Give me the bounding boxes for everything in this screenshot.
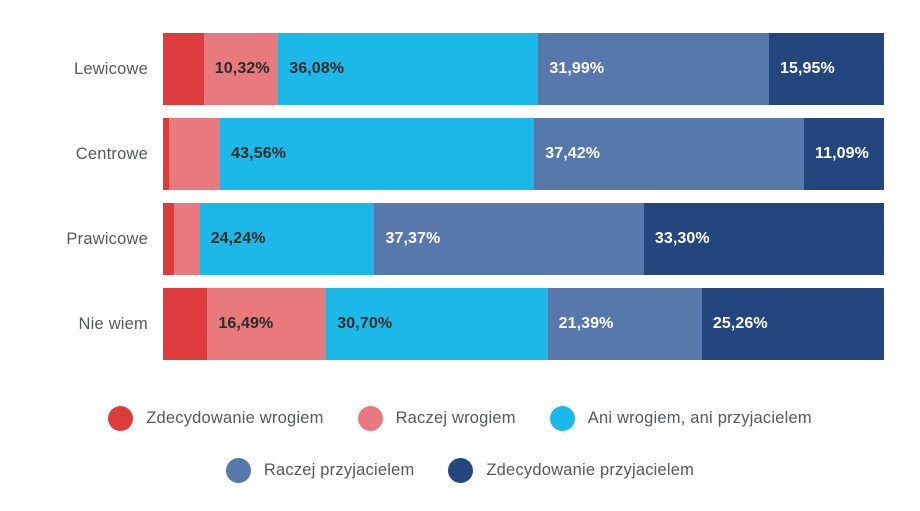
stacked-bar-nie-wiem: 16,49%30,70%21,39%25,26% xyxy=(163,288,884,360)
bar-row: Nie wiem 16,49%30,70%21,39%25,26% xyxy=(0,288,920,360)
bar-segment xyxy=(174,203,200,275)
bar-segment: 25,26% xyxy=(702,288,884,360)
bar-segment-value-label: 25,26% xyxy=(713,315,768,333)
bar-segment xyxy=(163,33,204,105)
legend-swatch-icon xyxy=(226,458,251,483)
bar-segment: 11,09% xyxy=(804,118,884,190)
stacked-bar-lewicowe: 10,32%36,08%31,99%15,95% xyxy=(163,33,884,105)
chart-legend: Zdecydowanie wrogiemRaczej wrogiemAni wr… xyxy=(0,392,920,496)
bar-segment: 10,32% xyxy=(204,33,278,105)
bar-segment: 30,70% xyxy=(326,288,547,360)
bar-segment xyxy=(163,203,174,275)
bar-segment: 24,24% xyxy=(200,203,375,275)
bar-segment-value-label: 24,24% xyxy=(211,230,266,248)
legend-swatch-icon xyxy=(550,406,575,431)
stacked-bar-chart: Lewicowe 10,32%36,08%31,99%15,95% Centro… xyxy=(0,0,920,511)
legend-row-2: Raczej przyjacielemZdecydowanie przyjaci… xyxy=(0,444,920,496)
bar-segment: 33,30% xyxy=(644,203,884,275)
legend-swatch-icon xyxy=(358,406,383,431)
bar-segment: 16,49% xyxy=(207,288,326,360)
bar-segment-value-label: 31,99% xyxy=(549,60,604,78)
bar-segment: 37,37% xyxy=(374,203,643,275)
bar-segment: 37,42% xyxy=(534,118,804,190)
bar-segment: 36,08% xyxy=(278,33,538,105)
stacked-bar-prawicowe: 24,24%37,37%33,30% xyxy=(163,203,884,275)
bar-segment: 43,56% xyxy=(220,118,534,190)
bar-segment-value-label: 33,30% xyxy=(655,230,710,248)
legend-swatch-icon xyxy=(108,406,133,431)
bar-segment xyxy=(169,118,220,190)
bar-segment-value-label: 16,49% xyxy=(218,315,273,333)
bar-row: Lewicowe 10,32%36,08%31,99%15,95% xyxy=(0,33,920,105)
legend-item[interactable]: Zdecydowanie wrogiem xyxy=(108,406,323,431)
bar-segment: 15,95% xyxy=(769,33,884,105)
legend-item[interactable]: Ani wrogiem, ani przyjacielem xyxy=(550,406,812,431)
bar-segment-value-label: 43,56% xyxy=(231,145,286,163)
bar-segment-value-label: 37,37% xyxy=(385,230,440,248)
stacked-bar-centrowe: 43,56%37,42%11,09% xyxy=(163,118,884,190)
legend-label: Zdecydowanie przyjacielem xyxy=(486,461,694,480)
bar-segment-value-label: 11,09% xyxy=(815,145,869,163)
bar-segment: 31,99% xyxy=(538,33,769,105)
category-label-nie-wiem: Nie wiem xyxy=(0,288,148,360)
legend-row-1: Zdecydowanie wrogiemRaczej wrogiemAni wr… xyxy=(0,392,920,444)
bar-row: Prawicowe 24,24%37,37%33,30% xyxy=(0,203,920,275)
bar-segment: 21,39% xyxy=(548,288,702,360)
bar-segment-value-label: 10,32% xyxy=(215,60,270,78)
legend-label: Zdecydowanie wrogiem xyxy=(146,409,323,428)
bar-segment-value-label: 36,08% xyxy=(289,60,344,78)
bar-row: Centrowe 43,56%37,42%11,09% xyxy=(0,118,920,190)
legend-label: Raczej przyjacielem xyxy=(264,461,415,480)
legend-swatch-icon xyxy=(448,458,473,483)
legend-item[interactable]: Raczej przyjacielem xyxy=(226,458,415,483)
bar-segment xyxy=(163,288,207,360)
category-label-centrowe: Centrowe xyxy=(0,118,148,190)
legend-item[interactable]: Zdecydowanie przyjacielem xyxy=(448,458,694,483)
bar-segment-value-label: 37,42% xyxy=(545,145,600,163)
legend-label: Raczej wrogiem xyxy=(396,409,516,428)
category-label-lewicowe: Lewicowe xyxy=(0,33,148,105)
bar-segment-value-label: 30,70% xyxy=(337,315,392,333)
bar-segment-value-label: 15,95% xyxy=(780,60,835,78)
plot-area: Lewicowe 10,32%36,08%31,99%15,95% Centro… xyxy=(0,20,920,370)
bar-segment-value-label: 21,39% xyxy=(559,315,614,333)
legend-label: Ani wrogiem, ani przyjacielem xyxy=(588,409,812,428)
legend-item[interactable]: Raczej wrogiem xyxy=(358,406,516,431)
category-label-prawicowe: Prawicowe xyxy=(0,203,148,275)
